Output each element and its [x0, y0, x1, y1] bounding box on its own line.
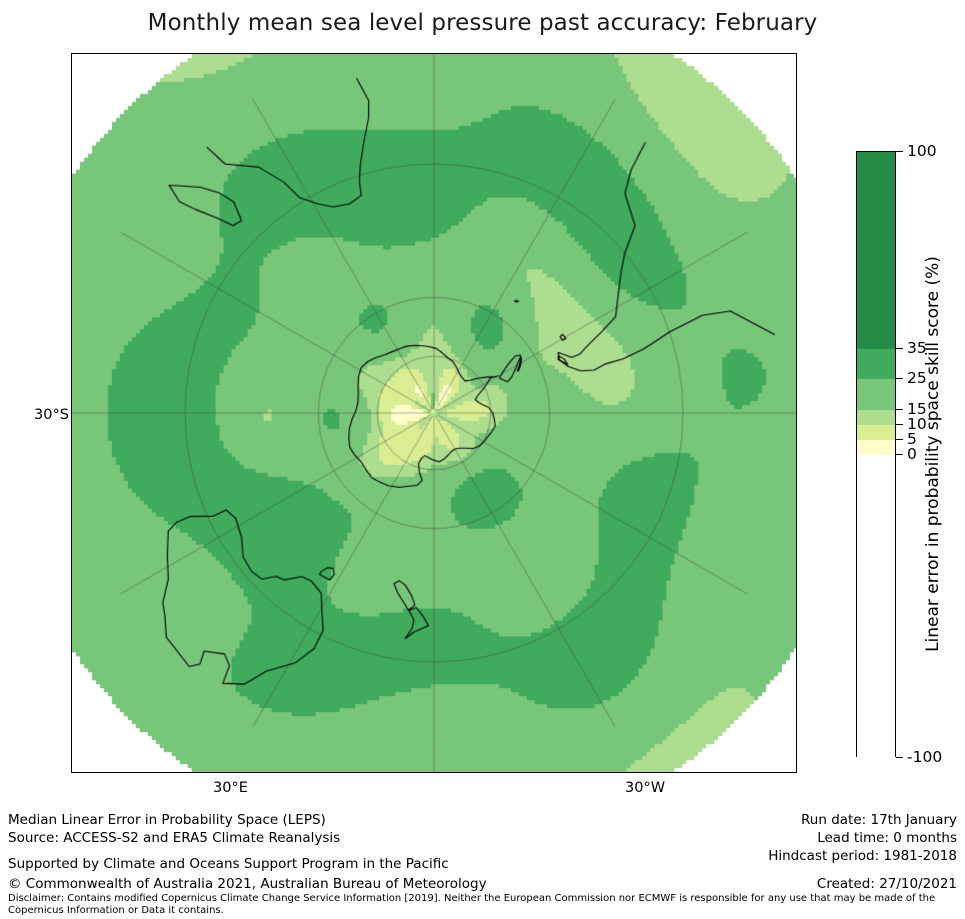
- colorbar-band-0: [857, 455, 895, 758]
- colorbar-axis-label: Linear error in probability space skill …: [913, 151, 953, 757]
- footer-method: Median Linear Error in Probability Space…: [8, 812, 326, 828]
- map-plot-area[interactable]: [71, 53, 797, 773]
- colorbar-tick: [896, 378, 903, 379]
- footer-copyright: © Commonwealth of Australia 2021, Austra…: [8, 876, 487, 892]
- colorbar-gradient: [856, 151, 896, 757]
- colorbar-tick: [896, 454, 903, 455]
- footer-support: Supported by Climate and Oceans Support …: [8, 856, 449, 872]
- colorbar-tick: [896, 439, 903, 440]
- colorbar-band-6: [857, 152, 895, 349]
- colorbar-tick: [896, 409, 903, 410]
- colorbar: -1000510152535100: [856, 151, 896, 757]
- colorbar-band-4: [857, 379, 895, 409]
- footer-created-date: Created: 27/10/2021: [817, 876, 957, 892]
- footer-lead-time: Lead time: 0 months: [817, 830, 957, 846]
- footer-disclaimer: Disclaimer: Contains modified Copernicus…: [8, 893, 958, 916]
- axis-label-longitude-right: 30°W: [625, 780, 665, 796]
- colorbar-band-5: [857, 349, 895, 379]
- colorbar-band-2: [857, 425, 895, 440]
- axis-label-longitude-left: 30°E: [213, 780, 248, 796]
- page-title: Monthly mean sea level pressure past acc…: [0, 10, 965, 36]
- colorbar-tick: [896, 757, 903, 758]
- colorbar-label-text: Linear error in probability space skill …: [923, 256, 943, 652]
- colorbar-band-1: [857, 440, 895, 455]
- colorbar-tick: [896, 348, 903, 349]
- footer-hindcast-period: Hindcast period: 1981-2018: [768, 848, 957, 864]
- footer-run-date: Run date: 17th January: [801, 812, 957, 828]
- axis-label-latitude: 30°S: [34, 407, 69, 423]
- colorbar-band-3: [857, 410, 895, 425]
- colorbar-tick: [896, 151, 903, 152]
- skill-score-heatmap: [72, 54, 796, 772]
- colorbar-tick: [896, 424, 903, 425]
- footer-source: Source: ACCESS-S2 and ERA5 Climate Reana…: [8, 830, 340, 846]
